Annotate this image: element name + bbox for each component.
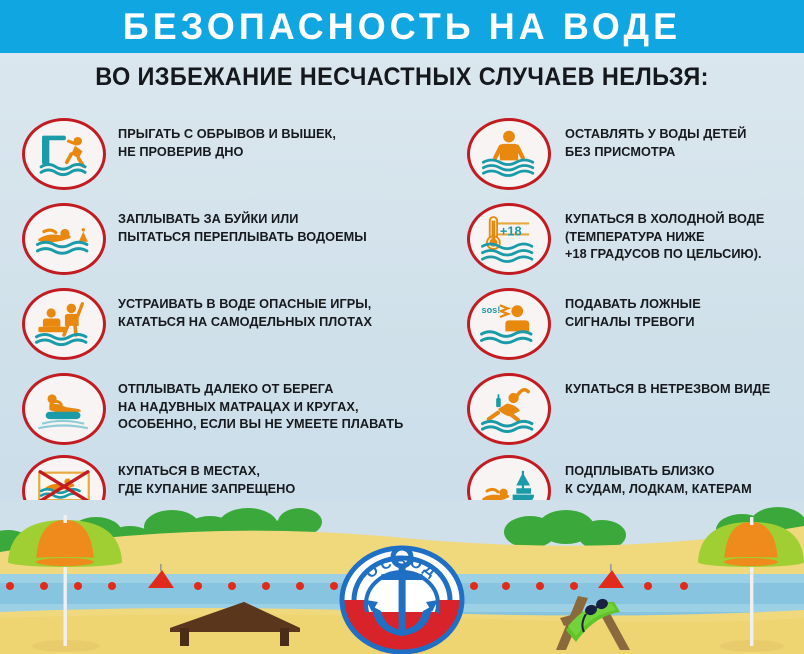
osvod-logo: ОСВОД [340,546,464,654]
page-title: БЕЗОПАСНОСТЬ НА ВОДЕ [12,1,792,53]
sos-label: sos! [482,305,501,315]
rule-text: КУПАТЬСЯ В ХОЛОДНОЙ ВОДЕ (ТЕМПЕРАТУРА НИ… [565,203,764,263]
thermometer-label: +18 [500,223,522,238]
inflatable-mattress-icon [22,373,106,445]
rule-row: sos! ПОДАВАТЬ ЛОЖНЫЕ СИГНАЛЫ ТРЕВОГИ [467,288,706,360]
cold-water-thermometer-icon: +18 [467,203,551,275]
rule-row: КУПАТЬСЯ В НЕТРЕЗВОМ ВИДЕ [467,373,778,445]
false-sos-signal-icon: sos! [467,288,551,360]
rule-row: УСТРАИВАТЬ В ВОДЕ ОПАСНЫЕ ИГРЫ, КАТАТЬСЯ… [22,288,381,360]
rule-text: ОСТАВЛЯТЬ У ВОДЫ ДЕТЕЙ БЕЗ ПРИСМОТРА [565,118,746,160]
rule-text: ПРЫГАТЬ С ОБРЫВОВ И ВЫШЕК, НЕ ПРОВЕРИВ Д… [118,118,336,160]
page-subtitle: ВО ИЗБЕЖАНИЕ НЕСЧАСТНЫХ СЛУЧАЕВ НЕЛЬЗЯ: [24,57,780,97]
rule-text: УСТРАИВАТЬ В ВОДЕ ОПАСНЫЕ ИГРЫ, КАТАТЬСЯ… [118,288,372,330]
rule-row: ЗАПЛЫВАТЬ ЗА БУЙКИ ИЛИ ПЫТАТЬСЯ ПЕРЕПЛЫВ… [22,203,376,275]
rule-text: ПОДАВАТЬ ЛОЖНЫЕ СИГНАЛЫ ТРЕВОГИ [565,288,701,330]
rule-row: ОТПЛЫВАТЬ ДАЛЕКО ОТ БЕРЕГА НА НАДУВНЫХ М… [22,373,414,445]
rule-text: КУПАТЬСЯ В МЕСТАХ, ГДЕ КУПАНИЕ ЗАПРЕЩЕНО [118,455,295,497]
dangerous-games-raft-icon [22,288,106,360]
rule-row: ОСТАВЛЯТЬ У ВОДЫ ДЕТЕЙ БЕЗ ПРИСМОТРА [467,118,753,190]
drunk-swimming-icon [467,373,551,445]
unattended-child-icon [467,118,551,190]
rule-text: КУПАТЬСЯ В НЕТРЕЗВОМ ВИДЕ [565,373,770,398]
rule-row: ПРЫГАТЬ С ОБРЫВОВ И ВЫШЕК, НЕ ПРОВЕРИВ Д… [22,118,344,190]
swim-past-buoy-icon [22,203,106,275]
infographic-page: БЕЗОПАСНОСТЬ НА ВОДЕ ВО ИЗБЕЖАНИЕ НЕСЧАС… [0,0,804,654]
rule-text: ЗАПЛЫВАТЬ ЗА БУЙКИ ИЛИ ПЫТАТЬСЯ ПЕРЕПЛЫВ… [118,203,367,245]
rule-text: ПОДПЛЫВАТЬ БЛИЗКО К СУДАМ, ЛОДКАМ, КАТЕР… [565,455,752,497]
rule-row: +18 КУПАТЬСЯ В ХОЛОДНОЙ ВОДЕ (ТЕМПЕРАТУР… [467,203,772,275]
rule-text: ОТПЛЫВАТЬ ДАЛЕКО ОТ БЕРЕГА НА НАДУВНЫХ М… [118,373,403,433]
beach-scene: ОСВОД [0,500,804,654]
cliff-diving-icon [22,118,106,190]
